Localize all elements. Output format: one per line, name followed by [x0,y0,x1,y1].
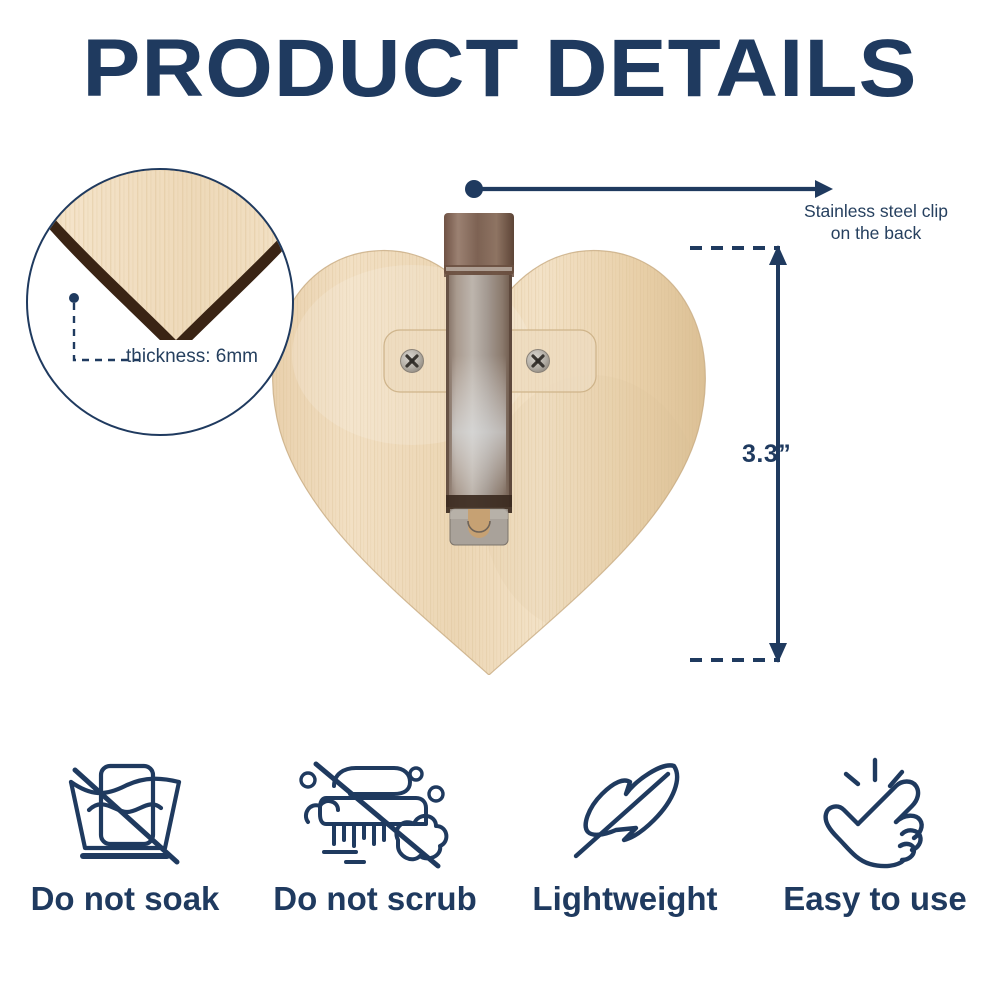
screw-left [401,350,424,373]
product-image [262,205,717,675]
page-title: PRODUCT DETAILS [0,22,1000,116]
feature-label: Do not scrub [255,880,495,918]
screw-right [527,350,550,373]
stainless-steel-clip [444,213,514,545]
thickness-detail-magnifier [26,168,294,436]
feature-label: Easy to use [755,880,995,918]
dimension-label: 3.3” [742,440,791,469]
thickness-leader-line [28,170,294,436]
thickness-label: thickness: 6mm [126,346,258,368]
feature-row: Do not soak [0,752,1000,918]
feather-icon [505,752,745,872]
no-scrub-icon [255,752,495,872]
heart-plaque [262,205,717,675]
feature-item: Lightweight [505,752,745,918]
clip-note-line-1: Stainless steel clip [762,200,990,222]
no-soak-icon [5,752,245,872]
tap-hand-icon [755,752,995,872]
feature-label: Lightweight [505,880,745,918]
feature-item: Do not scrub [255,752,495,918]
feature-item: Easy to use [755,752,995,918]
feature-label: Do not soak [5,880,245,918]
feature-item: Do not soak [5,752,245,918]
